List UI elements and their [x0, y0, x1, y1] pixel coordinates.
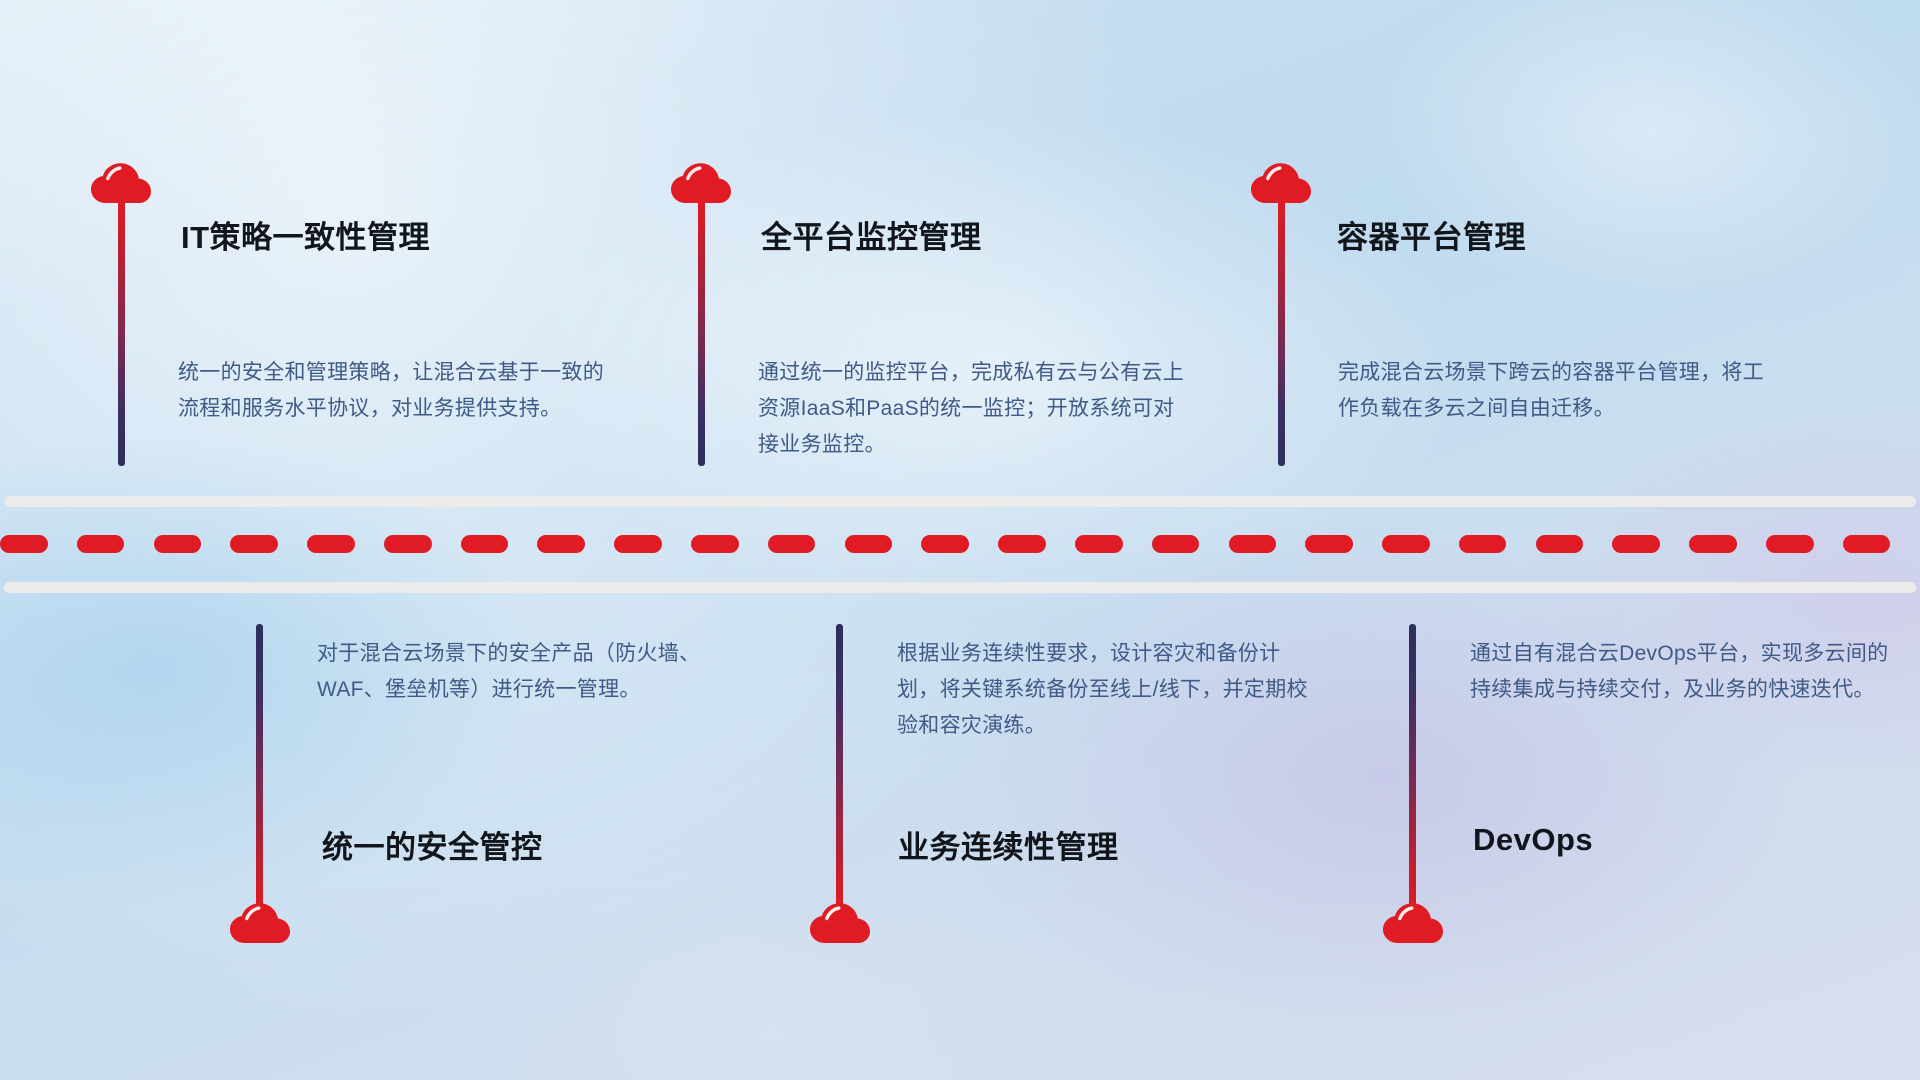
road-dash	[77, 535, 125, 553]
road-rail-top	[4, 496, 1916, 507]
card-heading: DevOps	[1473, 822, 1593, 858]
road-dash-gap	[432, 535, 461, 553]
road-dash	[998, 535, 1046, 553]
road-dash-gap	[1583, 535, 1612, 553]
card-heading: 统一的安全管控	[322, 822, 543, 867]
road-dash-gap	[1814, 535, 1843, 553]
connector-stem	[1278, 200, 1285, 466]
card-body-text: 对于混合云场景下的安全产品（防火墙、WAF、堡垒机等）进行统一管理。	[317, 636, 737, 708]
road-dash	[691, 535, 739, 553]
road-dash	[1075, 535, 1123, 553]
card-body-text: 完成混合云场景下跨云的容器平台管理，将工作负载在多云之间自由迁移。	[1338, 355, 1768, 427]
road-dash	[0, 535, 48, 553]
connector-stem	[1409, 624, 1416, 909]
road-dash	[1612, 535, 1660, 553]
road-dash-gap	[1430, 535, 1459, 553]
road-dash	[461, 535, 509, 553]
road-dash-gap	[1506, 535, 1535, 553]
road-dash-gap	[201, 535, 230, 553]
card-heading: 全平台监控管理	[761, 212, 982, 257]
road-dash-gap	[892, 535, 921, 553]
road-dash	[537, 535, 585, 553]
road-dash	[1689, 535, 1737, 553]
cloud-icon	[90, 158, 152, 204]
cloud-icon	[1382, 898, 1444, 944]
cloud-icon	[809, 898, 871, 944]
connector-stem	[698, 200, 705, 466]
cloud-icon	[1250, 158, 1312, 204]
road-dash-gap	[1199, 535, 1228, 553]
road-rail-bottom	[4, 582, 1916, 593]
card-heading: 容器平台管理	[1337, 212, 1526, 257]
road-dash-gap	[124, 535, 153, 553]
road-dash	[768, 535, 816, 553]
road-dash-gap	[1660, 535, 1689, 553]
road-dash	[921, 535, 969, 553]
road-dash-gap	[585, 535, 614, 553]
road-dash	[154, 535, 202, 553]
road-divider	[0, 490, 1920, 600]
connector-stem	[836, 624, 843, 909]
road-dash-gap	[969, 535, 998, 553]
road-dash-gap	[508, 535, 537, 553]
road-dash-gap	[1123, 535, 1152, 553]
connector-stem	[118, 200, 125, 466]
road-dash	[230, 535, 278, 553]
cloud-icon	[229, 898, 291, 944]
cloud-icon	[670, 158, 732, 204]
road-dash	[1459, 535, 1507, 553]
card-heading: IT策略一致性管理	[181, 212, 430, 257]
road-dash-gap	[1046, 535, 1075, 553]
road-dash-gap	[48, 535, 77, 553]
road-dash	[384, 535, 432, 553]
card-body-text: 根据业务连续性要求，设计容灾和备份计划，将关键系统备份至线上/线下，并定期校验和…	[897, 636, 1317, 744]
road-dash	[1305, 535, 1353, 553]
road-dash-gap	[1353, 535, 1382, 553]
card-body-text: 通过统一的监控平台，完成私有云与公有云上资源IaaS和PaaS的统一监控；开放系…	[758, 355, 1190, 463]
road-dash	[1382, 535, 1430, 553]
road-dash-gap	[1276, 535, 1305, 553]
card-body-text: 通过自有混合云DevOps平台，实现多云间的持续集成与持续交付，及业务的快速迭代…	[1470, 636, 1890, 708]
road-dash	[845, 535, 893, 553]
road-dash-line	[0, 535, 1920, 553]
road-dash	[1152, 535, 1200, 553]
road-dash-gap	[662, 535, 691, 553]
road-dash-gap	[815, 535, 844, 553]
road-dash-gap	[1737, 535, 1766, 553]
card-heading: 业务连续性管理	[898, 822, 1119, 867]
road-dash	[1766, 535, 1814, 553]
road-dash-gap	[739, 535, 768, 553]
road-dash	[307, 535, 355, 553]
road-dash-gap	[355, 535, 384, 553]
card-body-text: 统一的安全和管理策略，让混合云基于一致的流程和服务水平协议，对业务提供支持。	[178, 355, 606, 427]
road-dash	[1229, 535, 1277, 553]
road-dash	[614, 535, 662, 553]
road-dash	[1843, 535, 1891, 553]
road-dash-gap	[278, 535, 307, 553]
road-dash	[1536, 535, 1584, 553]
connector-stem	[256, 624, 263, 909]
